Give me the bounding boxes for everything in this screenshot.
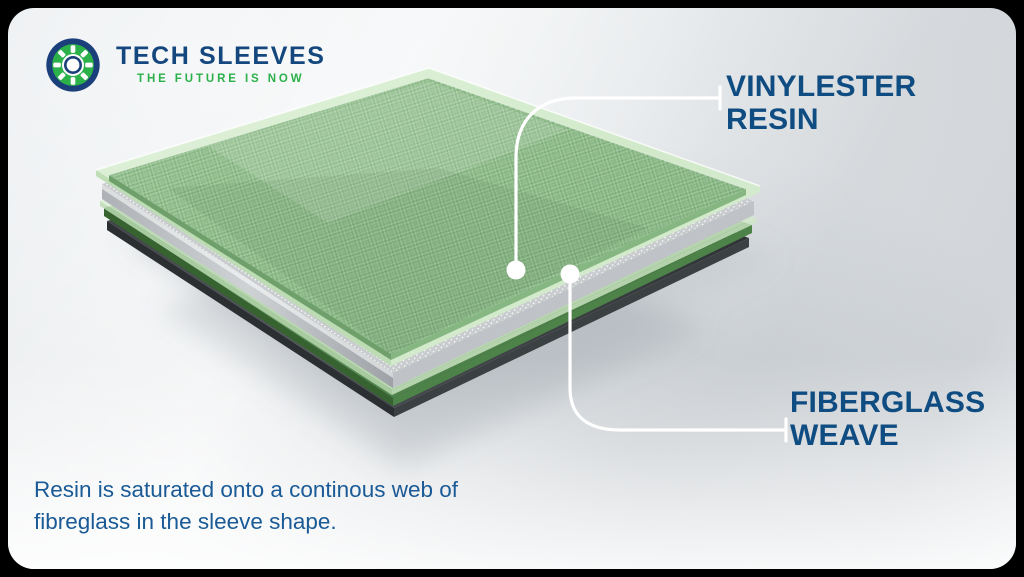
panel-cast-shadow (128, 128, 778, 468)
brand-tagline: THE FUTURE IS NOW (116, 74, 326, 86)
brand-logo-text: TECH SLEEVES THE FUTURE IS NOW (116, 44, 326, 86)
callout-label-fiberglass-weave: FIBERGLASS WEAVE (790, 386, 985, 452)
layer-fiberglass-weave-grey (102, 88, 754, 388)
layer-base-dark (107, 126, 749, 417)
layer-weave-green-bottom (104, 112, 752, 406)
caption-line-1: Resin is saturated onto a continous web … (34, 474, 594, 506)
callout-label-fiberglass-line1: FIBERGLASS (790, 386, 985, 419)
callout-dot-vinylester[interactable] (507, 261, 526, 280)
gear-wheel-icon (44, 36, 102, 94)
layer-resin-bottom (100, 104, 756, 395)
slide-card: TECH SLEEVES THE FUTURE IS NOW VINYLESTE… (8, 8, 1016, 569)
brand-logo[interactable]: TECH SLEEVES THE FUTURE IS NOW (44, 36, 326, 94)
slide-canvas: TECH SLEEVES THE FUTURE IS NOW VINYLESTE… (0, 0, 1024, 577)
layer-weave-green-top (109, 78, 746, 360)
callout-label-vinylester-line2: RESIN (726, 103, 916, 136)
caption-text: Resin is saturated onto a continous web … (34, 474, 594, 538)
brand-wordmark: TECH SLEEVES (116, 44, 326, 69)
caption-line-2: fibreglass in the sleeve shape. (34, 506, 594, 538)
callout-label-vinylester-resin: VINYLESTER RESIN (726, 70, 916, 136)
callout-line-fiberglass (561, 265, 787, 442)
callout-label-fiberglass-line2: WEAVE (790, 419, 985, 452)
callout-line-vinylester (507, 87, 721, 280)
layer-resin-top (96, 68, 760, 366)
callout-dot-fiberglass[interactable] (561, 265, 580, 284)
callout-label-vinylester-line1: VINYLESTER (726, 70, 916, 103)
